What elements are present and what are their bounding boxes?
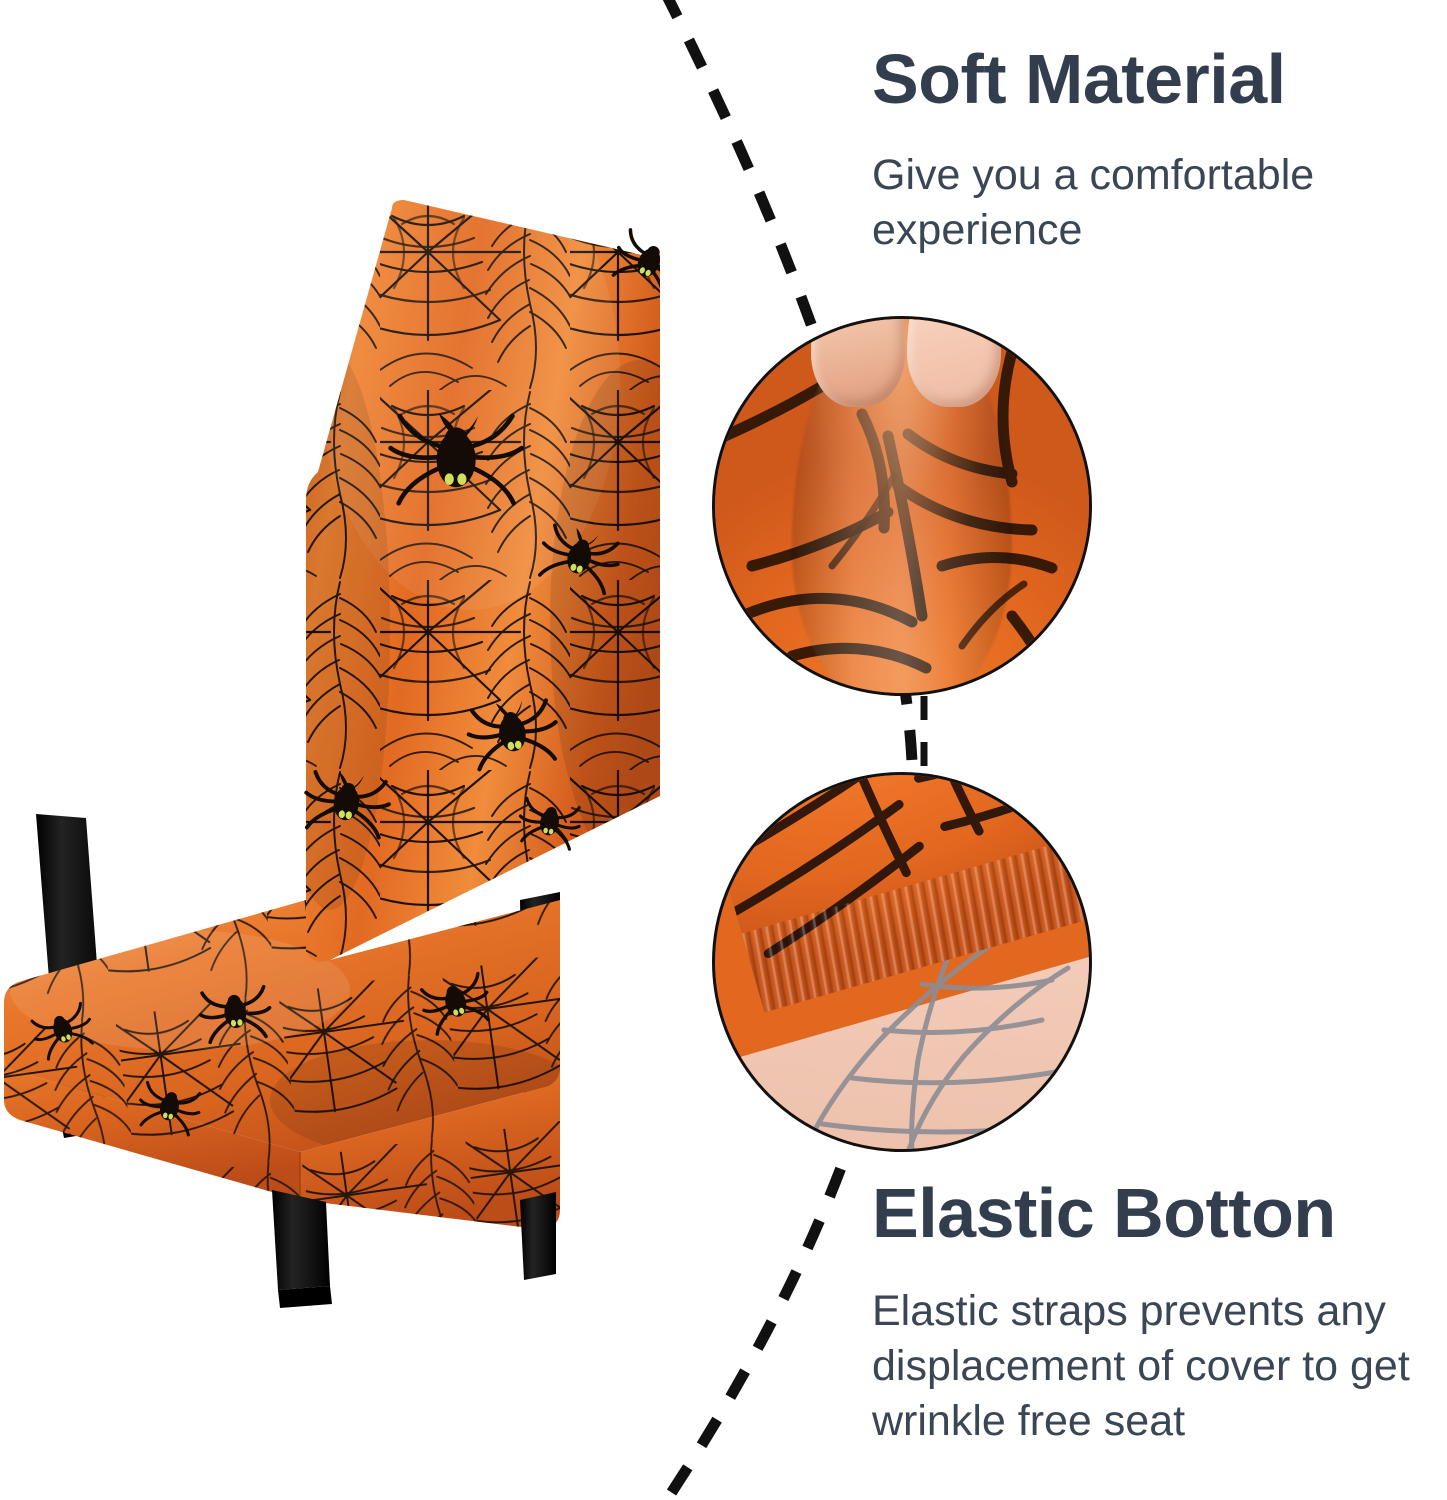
- soft-material-description: Give you a comfortable experience: [872, 148, 1392, 258]
- elastic-botton-title: Elastic Botton: [872, 1178, 1437, 1248]
- chair-backrest: [270, 200, 660, 1000]
- chair-svg: [0, 200, 660, 1310]
- detail-circle-elastic-hem: [712, 772, 1092, 1152]
- detail-circle-pinch: [712, 316, 1092, 696]
- feature-block-soft-material: Soft Material Give you a comfortable exp…: [872, 44, 1392, 258]
- soft-material-title: Soft Material: [872, 44, 1392, 114]
- hand-fingers: [811, 316, 1001, 407]
- product-chair-illustration: [0, 200, 660, 1310]
- finger: [811, 316, 905, 407]
- infographic-canvas: Soft Material Give you a comfortable exp…: [0, 0, 1447, 1500]
- finger-with-nail: [907, 316, 1001, 407]
- elastic-botton-description: Elastic straps prevents any displacement…: [872, 1284, 1437, 1449]
- feature-block-elastic-botton: Elastic Botton Elastic straps prevents a…: [872, 1178, 1437, 1449]
- dashed-vertical-link: [914, 694, 934, 774]
